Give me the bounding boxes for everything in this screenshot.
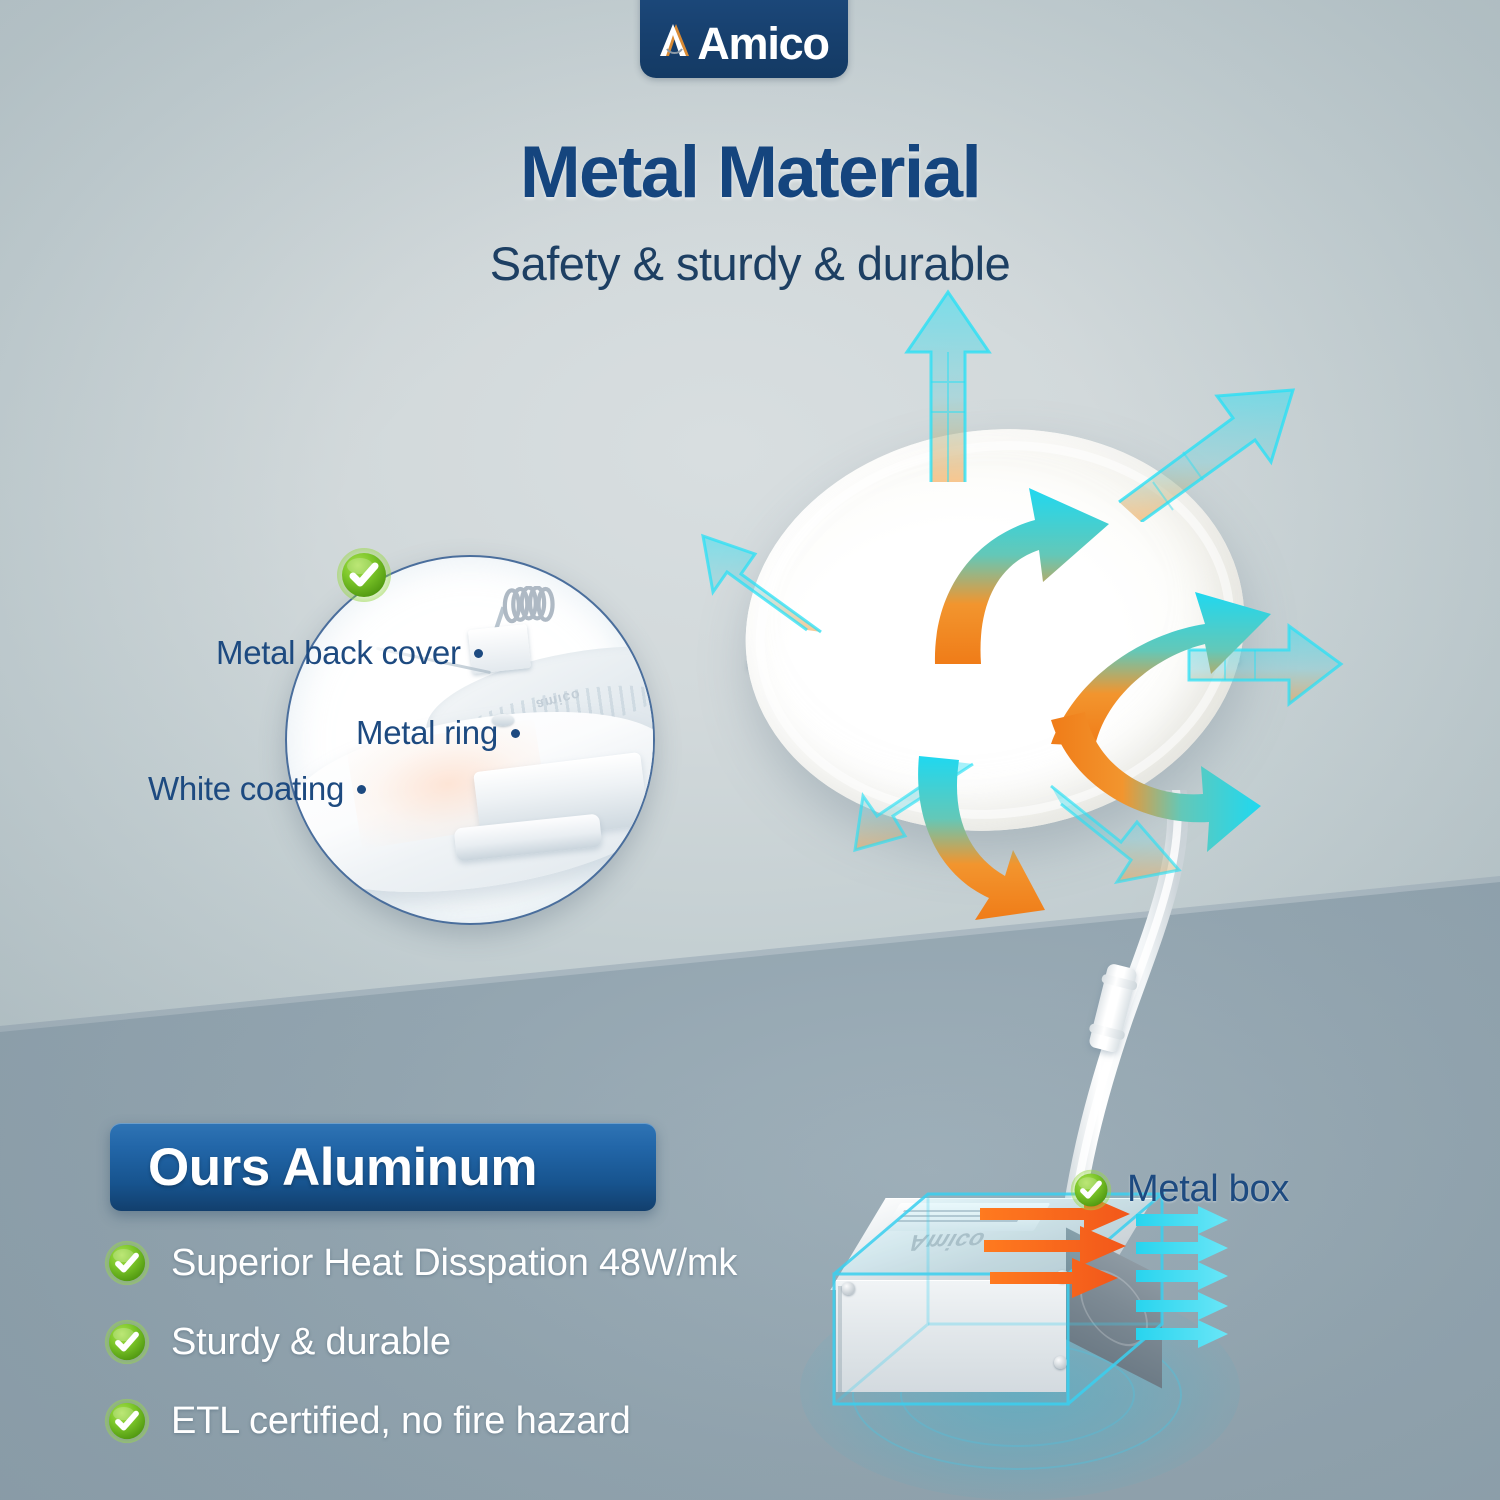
heat-arrow-solid-lower-right xyxy=(1045,710,1265,860)
feature-label: ETL certified, no fire hazard xyxy=(171,1400,631,1443)
callout-dot xyxy=(474,649,483,658)
green-check-icon xyxy=(104,1319,150,1365)
callout-label-text: Metal ring xyxy=(356,714,498,751)
heat-arrow-ghost-upper-right xyxy=(1113,362,1303,522)
callout-label-metal-back-cover: Metal back cover xyxy=(216,634,483,672)
callout-label-text: Metal back cover xyxy=(216,634,461,671)
junction-box-cooling-out-arrows xyxy=(1136,1206,1256,1366)
brand-logo-text: Amico xyxy=(659,21,829,66)
banner-label: Ours Aluminum xyxy=(110,1137,537,1198)
heat-arrow-solid-bottom xyxy=(901,752,1051,922)
heat-arrow-ghost-top xyxy=(893,282,1003,482)
callout-label-white-coating: White coating xyxy=(148,770,366,808)
ours-aluminum-banner: Ours Aluminum xyxy=(110,1123,656,1211)
led-panel-assembly xyxy=(745,430,1245,830)
metal-junction-box: Amico xyxy=(800,1170,1260,1500)
metal-box-callout-label: Metal box xyxy=(1127,1168,1289,1211)
callout-label-text: White coating xyxy=(148,770,344,807)
product-infographic: Amico Metal Material Safety & sturdy & d… xyxy=(0,0,1500,1500)
feature-label: Sturdy & durable xyxy=(171,1321,451,1364)
green-check-icon xyxy=(336,547,392,603)
green-check-icon xyxy=(1070,1169,1112,1211)
callout-dot xyxy=(357,785,366,794)
brand-logo: Amico xyxy=(640,0,848,78)
callout-dot xyxy=(511,729,520,738)
amico-a-mark-icon xyxy=(656,22,696,58)
green-check-icon xyxy=(104,1240,150,1286)
green-check-icon xyxy=(104,1398,150,1444)
callout-label-metal-ring: Metal ring xyxy=(356,714,520,752)
feature-label: Superior Heat Disspation 48W/mk xyxy=(171,1242,737,1285)
heat-arrow-ghost-left xyxy=(697,522,827,642)
metal-box-callout: Metal box xyxy=(1070,1168,1289,1211)
page-title: Metal Material xyxy=(0,131,1500,214)
page-subtitle: Safety & sturdy & durable xyxy=(0,236,1500,291)
